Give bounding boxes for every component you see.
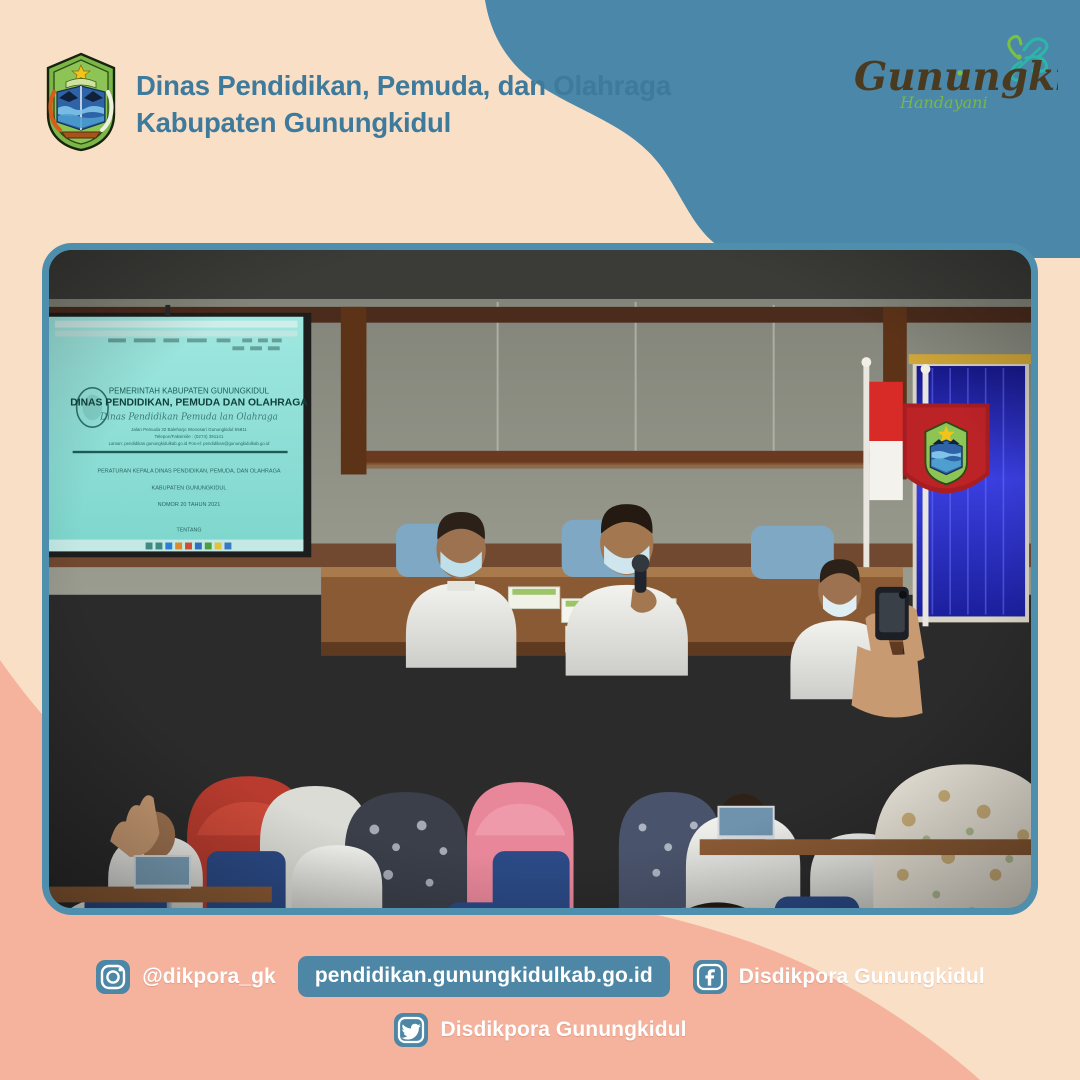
instagram-handle[interactable]: @dikpora_gk — [95, 959, 276, 995]
facebook-icon[interactable] — [692, 959, 728, 995]
page-title: Dinas Pendidikan, Pemuda, dan Olahraga K… — [136, 68, 671, 141]
gunungkidul-regency-crest — [42, 52, 120, 152]
instagram-label: @dikpora_gk — [142, 965, 276, 989]
page-header: Dinas Pendidikan, Pemuda, dan Olahraga K… — [0, 0, 1080, 200]
facebook-handle[interactable]: Disdikpora Gunungkidul — [692, 959, 985, 995]
meeting-room-photograph: PEMERINTAH KABUPATEN GUNUNGKIDUL DINAS P… — [49, 250, 1031, 908]
website-url-pill[interactable]: pendidikan.gunungkidulkab.go.id — [298, 956, 670, 997]
social-row-primary: @dikpora_gk pendidikan.gunungkidulkab.go… — [0, 956, 1080, 997]
twitter-label: Disdikpora Gunungkidul — [440, 1018, 686, 1042]
logo-tagline: Handayani — [899, 93, 988, 112]
social-footer: @dikpora_gk pendidikan.gunungkidulkab.go… — [0, 940, 1080, 1080]
instagram-icon[interactable] — [95, 959, 131, 995]
social-row-secondary: Disdikpora Gunungkidul — [0, 1012, 1080, 1048]
twitter-icon[interactable] — [393, 1012, 429, 1048]
twitter-handle[interactable]: Disdikpora Gunungkidul — [393, 1012, 686, 1048]
gunungkidul-handayani-logo: Gunungkidul Handayani — [848, 26, 1058, 122]
facebook-label: Disdikpora Gunungkidul — [739, 965, 985, 989]
event-photo: PEMERINTAH KABUPATEN GUNUNGKIDUL DINAS P… — [42, 243, 1038, 915]
